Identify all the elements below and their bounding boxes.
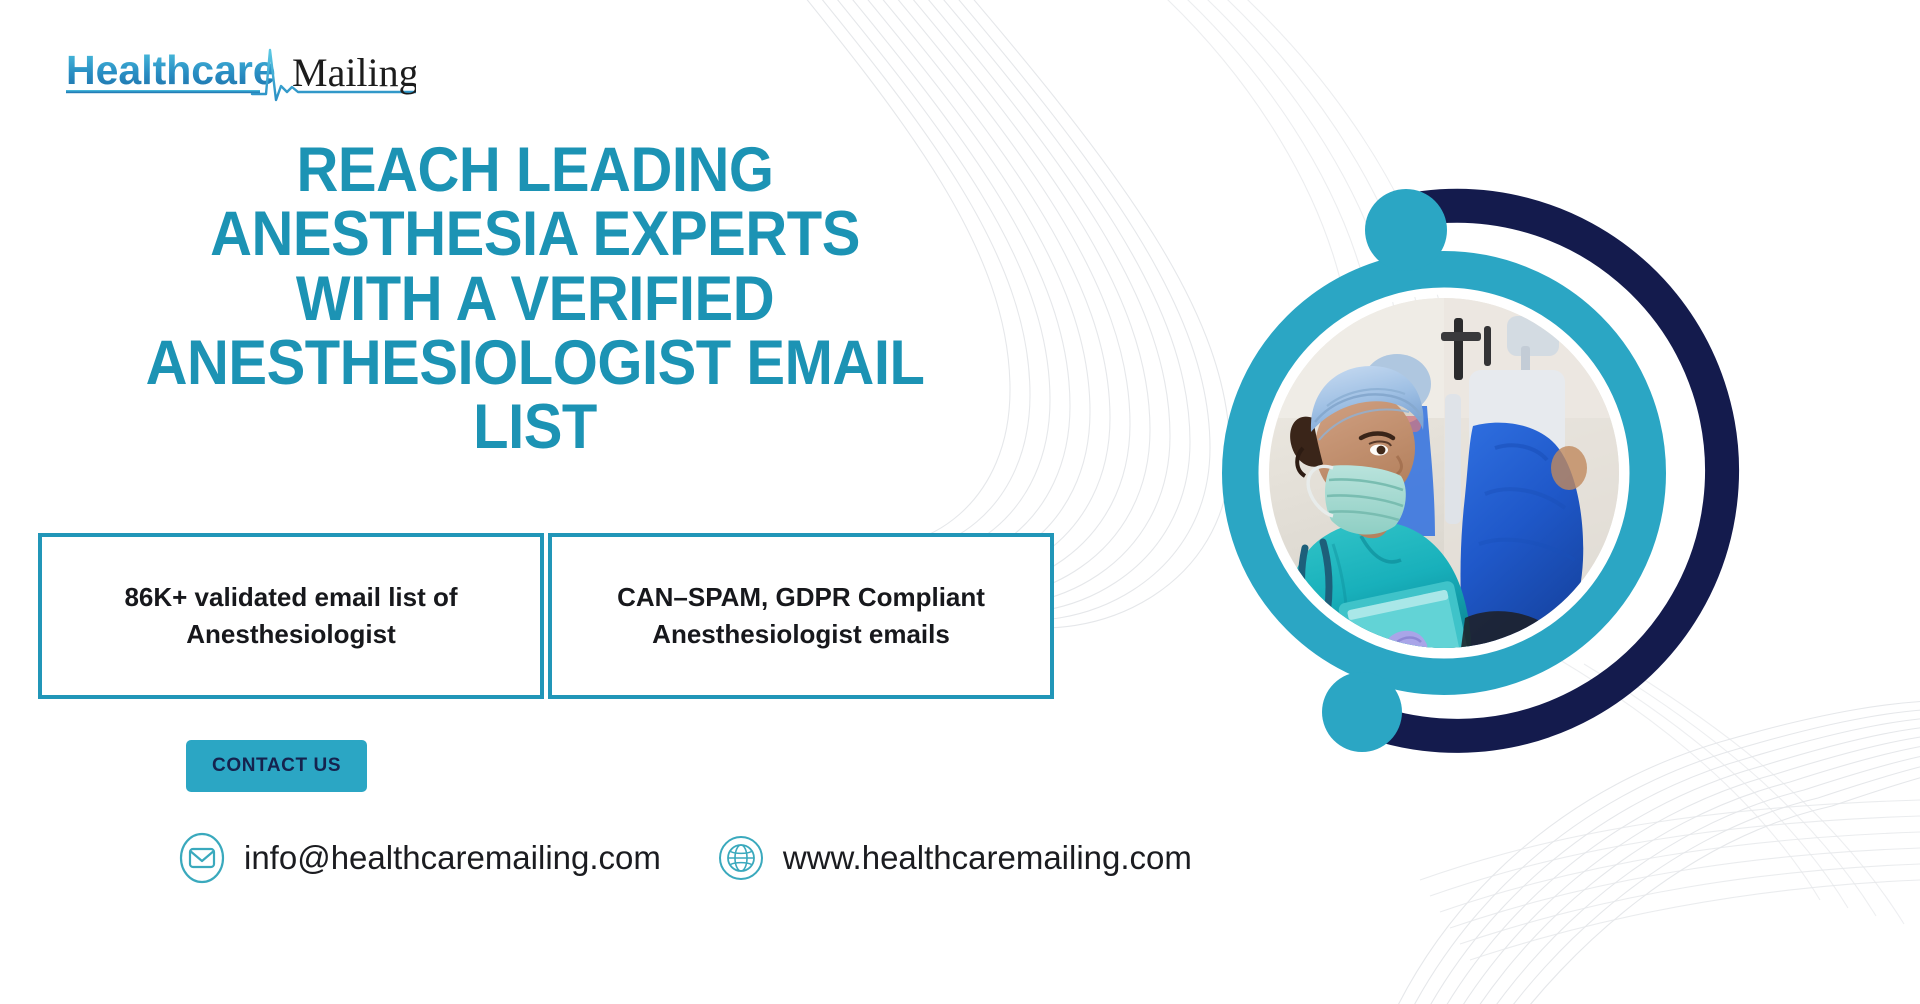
brand-logo[interactable]: Healthcare Mailing <box>66 42 416 108</box>
website-url: www.healthcaremailing.com <box>783 839 1192 877</box>
contact-info-row: info@healthcaremailing.com www.healthcar… <box>178 832 1192 884</box>
logo-healthcare-text: Healthcare <box>66 47 276 93</box>
feature-text: CAN–SPAM, GDPR Compliant Anesthesiologis… <box>576 579 1026 653</box>
marketing-banner: Healthcare Mailing REACH LEADING ANESTHE… <box>0 0 1920 1004</box>
logo-svg: Healthcare Mailing <box>66 42 416 108</box>
feature-text: 86K+ validated email list of Anesthesiol… <box>66 579 516 653</box>
feature-box-group: 86K+ validated email list of Anesthesiol… <box>38 533 1054 699</box>
contact-us-label: CONTACT US <box>212 755 341 776</box>
logo-underline <box>66 90 260 93</box>
hero-image-composition <box>1040 40 1920 940</box>
feature-box-validated-list: 86K+ validated email list of Anesthesiol… <box>38 533 544 699</box>
headline-line-1: REACH LEADING <box>70 138 999 202</box>
contact-us-button[interactable]: CONTACT US <box>186 740 367 792</box>
envelope-circle-icon <box>178 832 226 884</box>
headline-line-5: LIST <box>70 395 999 459</box>
hero-photo-illustration <box>1269 298 1619 648</box>
page-title: REACH LEADING ANESTHESIA EXPERTS WITH A … <box>30 138 1040 459</box>
headline-line-2: ANESTHESIA EXPERTS <box>70 202 999 266</box>
contact-email[interactable]: info@healthcaremailing.com <box>178 832 661 884</box>
email-address: info@healthcaremailing.com <box>244 839 661 877</box>
globe-circle-icon <box>717 832 765 884</box>
contact-website[interactable]: www.healthcaremailing.com <box>717 832 1192 884</box>
logo-mailing-text: Mailing <box>292 50 416 95</box>
feature-box-compliance: CAN–SPAM, GDPR Compliant Anesthesiologis… <box>548 533 1054 699</box>
headline-line-4: ANESTHESIOLOGIST EMAIL <box>70 331 999 395</box>
hero-photo <box>1269 298 1619 648</box>
teal-dot-bottom <box>1322 672 1402 752</box>
headline-line-3: WITH A VERIFIED <box>70 267 999 331</box>
teal-dot-top <box>1365 189 1447 271</box>
